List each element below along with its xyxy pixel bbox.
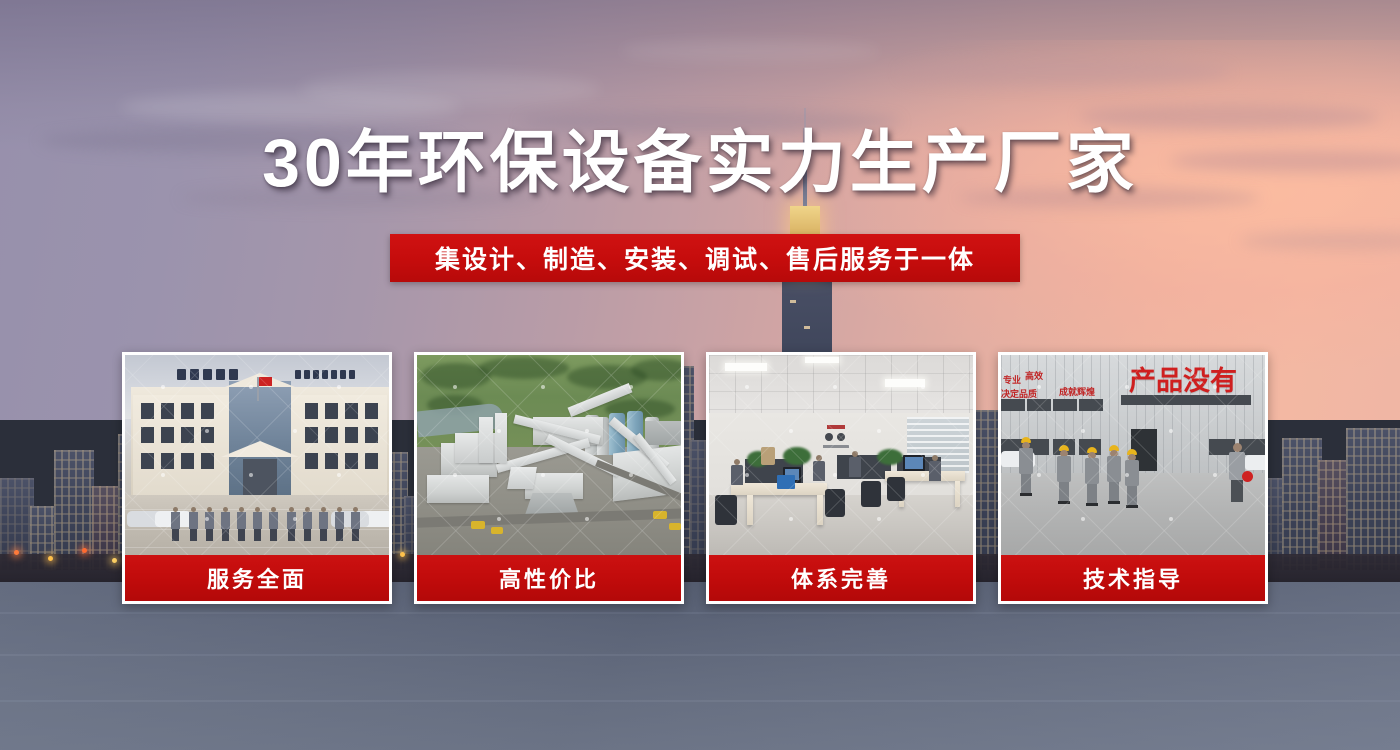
desk-leg <box>955 481 960 507</box>
factory-window <box>1027 399 1051 411</box>
worker-shoes <box>1058 501 1070 504</box>
sign-glyph <box>229 369 238 380</box>
watermark-dot <box>205 429 209 433</box>
window <box>345 453 358 469</box>
staff-member <box>335 507 344 541</box>
window <box>365 453 378 469</box>
watermark-dot <box>205 517 209 521</box>
decorative-vase <box>761 447 775 465</box>
sign-glyph <box>203 369 212 380</box>
loader-vehicle <box>491 527 503 534</box>
company-name-sign <box>177 369 269 380</box>
sign-glyph <box>190 369 199 380</box>
watermark-dot <box>1125 473 1129 477</box>
phone-glyph <box>331 370 337 379</box>
worker-legs <box>1059 482 1069 503</box>
office-worker <box>849 451 861 477</box>
staff-member <box>205 507 214 541</box>
watermark-dot <box>453 473 457 477</box>
promotional-banner: 30年环保设备实力生产厂家 集设计、制造、安装、调试、售后服务于一体 <box>0 0 1400 750</box>
cloud <box>300 72 600 106</box>
card-label-text: 技术指导 <box>1083 562 1183 594</box>
building-entrance <box>243 459 277 495</box>
office-chair <box>825 489 845 517</box>
watermark-dot <box>745 473 749 477</box>
shore-light <box>14 550 19 555</box>
instructor-legs <box>1231 480 1243 502</box>
plant-building <box>427 475 489 503</box>
window <box>161 453 174 469</box>
worker-legs <box>1127 486 1137 507</box>
watermark-dot <box>293 429 297 433</box>
water-ripple <box>0 700 1400 702</box>
cloud <box>620 40 880 62</box>
worker <box>1057 445 1071 503</box>
watermark-dot <box>497 517 501 521</box>
sign-glyph <box>177 369 186 380</box>
phone-glyph <box>313 370 319 379</box>
watermark-dot <box>789 429 793 433</box>
watermark-dot <box>629 473 633 477</box>
watermark-dot <box>1081 429 1085 433</box>
industrial-plant-aerial-photo <box>417 355 681 555</box>
tower-window <box>790 300 796 303</box>
office-interior-photo <box>709 355 973 555</box>
watermark-dot <box>789 517 793 521</box>
building <box>1346 428 1400 570</box>
card-label-service: 服务全面 <box>125 555 389 601</box>
worker-uniform <box>1085 458 1099 484</box>
worker-legs <box>1021 474 1031 495</box>
watermark-dot <box>453 385 457 389</box>
card-label-system: 体系完善 <box>709 555 973 601</box>
staff-member <box>189 507 198 541</box>
worker <box>1085 447 1099 505</box>
watermark-dot <box>1081 517 1085 521</box>
window <box>161 403 174 419</box>
water-ripple <box>0 612 1400 614</box>
shore-light <box>82 548 87 553</box>
window <box>365 427 378 443</box>
phone-glyph <box>295 370 301 379</box>
building <box>1282 438 1322 570</box>
card-label-text: 服务全面 <box>207 562 307 594</box>
worker <box>1125 449 1139 507</box>
watermark-dot <box>833 473 837 477</box>
watermark-dot <box>1169 429 1173 433</box>
watermark-dot <box>1213 473 1217 477</box>
processing-unit <box>507 467 537 489</box>
monitor-screen <box>905 457 923 469</box>
processing-tower <box>479 417 493 463</box>
office-chair <box>715 495 737 525</box>
office-worker <box>731 459 743 485</box>
ceiling-light-panel <box>805 357 839 363</box>
watermark-dot <box>585 517 589 521</box>
watermark-dot <box>541 473 545 477</box>
watermark-dot <box>1169 517 1173 521</box>
watermark-dot <box>249 385 253 389</box>
watermark-dot <box>921 473 925 477</box>
worker-legs <box>1087 484 1097 505</box>
cloud <box>900 58 1230 86</box>
card-label-text: 高性价比 <box>499 562 599 594</box>
potted-plant <box>877 449 903 465</box>
staff-member <box>171 507 180 541</box>
desk-leg <box>747 495 753 525</box>
watermark-dot <box>585 429 589 433</box>
watermark-dot <box>161 473 165 477</box>
banner-headline: 30年环保设备实力生产厂家 <box>0 128 1400 199</box>
worker-legs <box>1109 482 1119 503</box>
company-headquarters-photo <box>125 355 389 555</box>
feature-card-value[interactable]: 高性价比 <box>414 352 684 604</box>
loader-vehicle <box>653 511 667 519</box>
window <box>305 403 318 419</box>
staff-member <box>237 507 246 541</box>
staff-member <box>269 507 278 541</box>
worker-uniform <box>1019 448 1033 474</box>
phone-glyph <box>322 370 328 379</box>
worker-shoes <box>1108 501 1120 504</box>
phone-number-sign <box>295 369 365 379</box>
desk-leg <box>817 495 823 525</box>
window <box>141 403 154 419</box>
window <box>325 453 338 469</box>
window <box>305 427 318 443</box>
watermark-dot <box>1037 385 1041 389</box>
worker-uniform <box>1057 456 1071 482</box>
watermark-dot <box>1037 473 1041 477</box>
watermark-dot <box>1125 385 1129 389</box>
office-chair <box>861 481 881 507</box>
watermark-dot <box>541 385 545 389</box>
water-ripple <box>0 654 1400 656</box>
window <box>305 453 318 469</box>
watermark-dot <box>249 473 253 477</box>
window <box>141 427 154 443</box>
office-worker <box>813 455 825 481</box>
worker <box>1019 437 1033 495</box>
banner-subtitle-text: 集设计、制造、安装、调试、售后服务于一体 <box>435 240 975 276</box>
worker-uniform <box>1107 456 1121 482</box>
staff-member <box>303 507 312 541</box>
window <box>345 427 358 443</box>
window <box>365 403 378 419</box>
ceiling-light-panel <box>725 363 767 371</box>
worker-shoes <box>1086 503 1098 506</box>
phone-glyph <box>349 370 355 379</box>
staff-member <box>221 507 230 541</box>
staff-member <box>253 507 262 541</box>
office-worker <box>929 455 941 481</box>
treeline <box>479 357 569 379</box>
watermark-dot <box>833 385 837 389</box>
card-label-text: 体系完善 <box>791 562 891 594</box>
watermark-dot <box>293 517 297 521</box>
desk-box <box>777 475 795 489</box>
factory-window-band <box>1121 395 1251 405</box>
wall-decal <box>821 425 851 451</box>
wall-slogan-small: 高效 <box>1025 369 1043 382</box>
tower-window <box>804 326 810 329</box>
phone-glyph <box>340 370 346 379</box>
worker-shoes <box>1126 505 1138 508</box>
worker <box>1107 445 1121 503</box>
watermark-dot <box>629 385 633 389</box>
phone-glyph <box>304 370 310 379</box>
pavement-line <box>125 547 389 548</box>
loader-vehicle <box>669 523 681 530</box>
watermark-dot <box>877 517 881 521</box>
parked-car <box>1245 455 1265 470</box>
factory-wall-slogan: 产品没有 <box>1129 359 1237 398</box>
shore-light <box>48 556 53 561</box>
wall-slogan-small: 成就辉煌 <box>1059 385 1095 398</box>
watermark-dot <box>337 473 341 477</box>
card-label-guidance: 技术指导 <box>1001 555 1265 601</box>
shore-light <box>112 558 117 563</box>
ceiling-light-panel <box>885 379 925 387</box>
watermark-dot <box>921 385 925 389</box>
window <box>345 403 358 419</box>
card-label-value: 高性价比 <box>417 555 681 601</box>
factory-window <box>1053 399 1077 411</box>
factory-window <box>1079 399 1103 411</box>
workers-training-photo: 产品没有 专业 高效 决定品质 成就辉煌 <box>1001 355 1265 555</box>
instructor <box>1229 443 1245 505</box>
banner-subtitle-bar: 集设计、制造、安装、调试、售后服务于一体 <box>390 234 1020 282</box>
window <box>325 427 338 443</box>
feature-card-service[interactable]: 服务全面 <box>122 352 392 604</box>
window <box>141 453 154 469</box>
red-helmet-icon <box>1242 471 1253 482</box>
sign-glyph <box>216 369 225 380</box>
wall-slogan-small: 专业 <box>1003 373 1021 386</box>
window <box>201 403 214 419</box>
window <box>181 453 194 469</box>
staff-member <box>351 507 360 541</box>
instructor-head <box>1233 443 1242 452</box>
worker-shoes <box>1020 493 1032 496</box>
watermark-dot <box>1213 385 1217 389</box>
window <box>325 403 338 419</box>
potted-plant <box>783 447 811 465</box>
office-chair <box>887 477 905 501</box>
feature-card-row: 服务全面 <box>122 352 1280 604</box>
window <box>201 453 214 469</box>
watermark-dot <box>877 429 881 433</box>
window <box>181 403 194 419</box>
watermark-dot <box>337 385 341 389</box>
factory-window <box>1001 399 1025 411</box>
feature-card-guidance[interactable]: 产品没有 专业 高效 决定品质 成就辉煌 <box>998 352 1268 604</box>
window <box>181 427 194 443</box>
feature-card-system[interactable]: 体系完善 <box>706 352 976 604</box>
staff-member <box>319 507 328 541</box>
staff-member <box>287 507 296 541</box>
watermark-dot <box>161 385 165 389</box>
window <box>161 427 174 443</box>
watermark-dot <box>497 429 501 433</box>
loader-vehicle <box>471 521 485 529</box>
processing-tower <box>495 413 507 463</box>
plant-roof <box>645 421 681 445</box>
watermark-dot <box>745 385 749 389</box>
